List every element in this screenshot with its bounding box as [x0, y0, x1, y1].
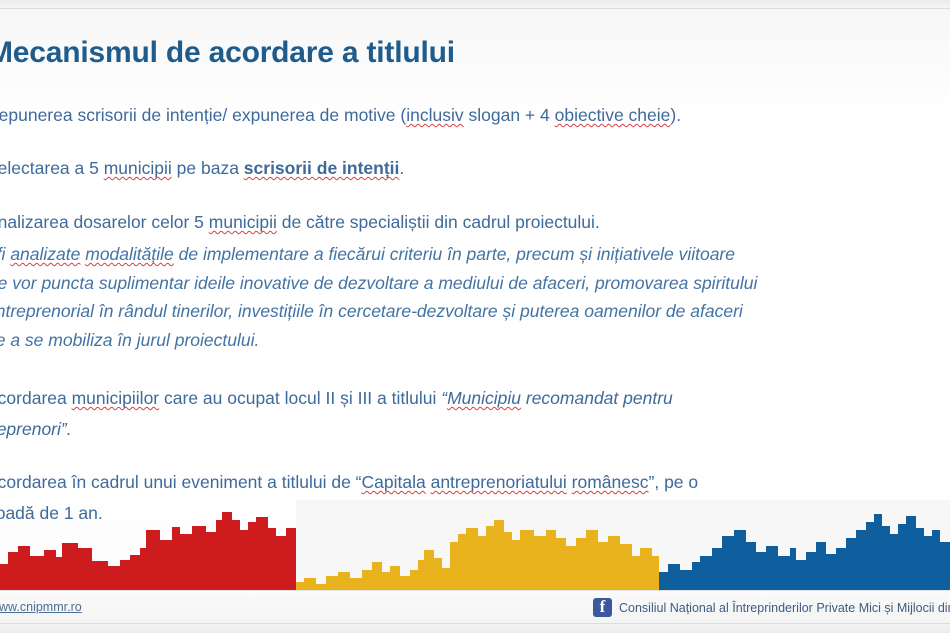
top-divider-rule — [0, 8, 950, 9]
italic-l1-a: r fi — [0, 244, 10, 264]
p5-misspelling-capitala: Capitala — [362, 472, 426, 492]
p4-line-2: treprenori”. — [0, 414, 950, 445]
p2-text-before: Selectarea a 5 — [0, 158, 104, 178]
footer-website-link[interactable]: www.cnipmmr.ro — [0, 600, 82, 614]
p4-quoted-rest: recomandat pentru — [521, 388, 673, 408]
p1-text-before: Depunerea scrisorii de intenție/ expuner… — [0, 105, 406, 125]
italic-line-3: antreprenorial în rândul tinerilor, inve… — [0, 297, 950, 326]
presentation-slide: Mecanismul de acordare a titlului Depune… — [0, 0, 950, 633]
p1-misspelling-inclusiv: inclusiv — [406, 105, 463, 125]
p1-text-mid: slogan + 4 — [464, 105, 555, 125]
p1-misspelling-obiective-cheie: obiective cheie — [555, 105, 671, 125]
footer-facebook-label: Consiliul Național al Întreprinderilor P… — [619, 601, 950, 615]
italic-misspelling-analizate: analizate — [10, 244, 80, 264]
italic-misspelling-modalitatile: modalitățile — [85, 244, 174, 264]
bullet-paragraph-2: Selectarea a 5 municipii pe baza scrisor… — [0, 156, 404, 181]
p5-l1-a: Acordarea în cadrul unui eveniment a tit… — [0, 472, 356, 492]
city-skyline-graphic — [0, 500, 950, 590]
p4-l1-b: care au ocupat locul II și III a titlulu… — [159, 388, 441, 408]
p5-misspelling-antreprenoriatului: antreprenoriatului — [431, 472, 567, 492]
p2-misspelling-municipii: municipii — [104, 158, 172, 178]
bullet-paragraph-1: Depunerea scrisorii de intenție/ expuner… — [0, 103, 681, 128]
p3-misspelling-municipii: municipii — [209, 212, 277, 232]
footer-divider — [0, 623, 950, 624]
bullet-paragraph-3: Analizarea dosarelor celor 5 municipii d… — [0, 210, 600, 235]
p4-misspelling-municipiilor: municipiilor — [72, 388, 160, 408]
slide-footer: www.cnipmmr.ro Consiliul Național al Înt… — [0, 590, 950, 633]
p4-l1-a: Acordarea — [0, 388, 72, 408]
page-title: Mecanismul de acordare a titlului — [0, 36, 948, 70]
italic-line-1: r fi analizate modalitățile de implement… — [0, 240, 950, 269]
p5-line-1: Acordarea în cadrul unui eveniment a tit… — [0, 467, 950, 498]
p3-text-after: de către specialiștii din cadrul proiect… — [277, 212, 600, 232]
footer-facebook-block[interactable]: Consiliul Național al Întreprinderilor P… — [593, 598, 950, 617]
italic-l1-c: de implementare a fiecărui criteriu în p… — [174, 244, 735, 264]
bullet-paragraph-4: Acordarea municipiilor care au ocupat lo… — [0, 383, 950, 445]
p1-text-after: ). — [670, 105, 681, 125]
p2-text-mid: pe baza — [172, 158, 244, 178]
p5-misspelling-romanesc: românesc — [572, 472, 649, 492]
p4-line-1: Acordarea municipiilor care au ocupat lo… — [0, 383, 950, 414]
p4-misspelling-municipiu: Municipiu — [447, 388, 521, 408]
italic-line-2: Se vor puncta suplimentar ideile inovati… — [0, 269, 950, 298]
facebook-icon[interactable] — [593, 598, 612, 617]
p3-text-before: Analizarea dosarelor celor 5 — [0, 212, 209, 232]
p2-text-after: . — [399, 158, 404, 178]
italic-explanation-block: r fi analizate modalitățile de implement… — [0, 240, 950, 354]
italic-line-4: de a se mobiliza în jurul proiectului. — [0, 326, 950, 355]
p5-l1-tail: , pe o — [654, 472, 698, 492]
p2-bold-misspelling-scrisorii-de-intentii: scrisorii de intenții — [244, 158, 400, 178]
